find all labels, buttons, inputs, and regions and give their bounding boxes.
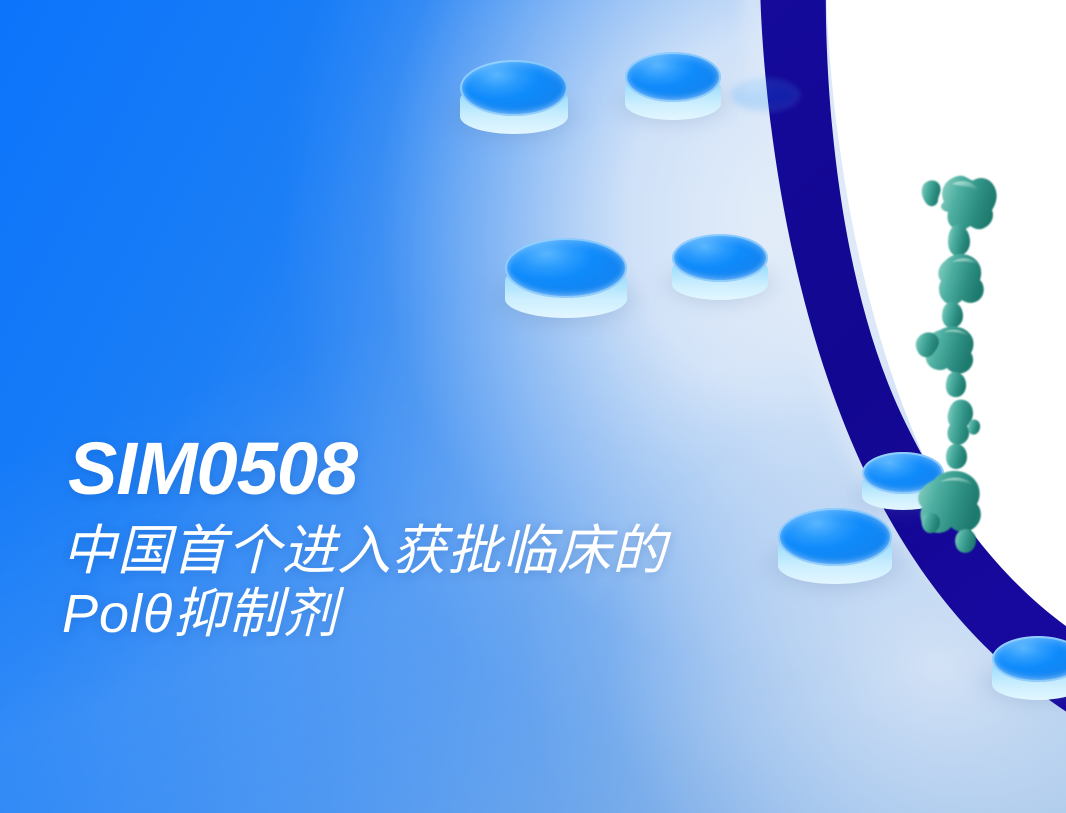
tablet-lower-center	[778, 508, 892, 590]
tablet-bottom-right	[992, 636, 1066, 702]
page-title: SIM0508	[68, 432, 667, 506]
tablet-mid-right	[672, 234, 768, 304]
headline-block: SIM0508 中国首个进入获批临床的 Polθ抑制剂	[62, 432, 667, 645]
polymerase-theta-protein-structure	[900, 162, 1036, 568]
tablet-top	[730, 78, 800, 112]
tablet-top-left	[460, 60, 568, 138]
subtitle-line-2: Polθ抑制剂	[62, 583, 667, 646]
tablet-ghost-upper	[730, 78, 800, 122]
tablet-mid-left	[505, 238, 627, 324]
tablet-rim	[505, 238, 627, 298]
subtitle: 中国首个进入获批临床的 Polθ抑制剂	[62, 520, 667, 645]
tablet-rim	[778, 508, 892, 566]
tablet-rim	[460, 60, 568, 116]
tablet-rim	[625, 52, 721, 102]
tablet-top-right	[625, 52, 721, 124]
subtitle-line-1: 中国首个进入获批临床的	[62, 520, 667, 583]
tablet-rim	[672, 234, 768, 282]
poster-canvas: SIM0508 中国首个进入获批临床的 Polθ抑制剂	[0, 0, 1066, 813]
